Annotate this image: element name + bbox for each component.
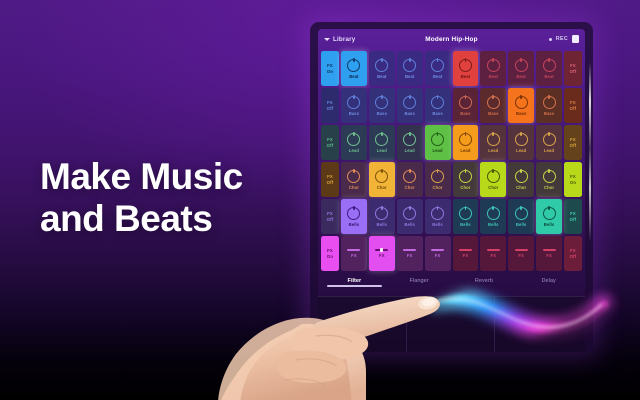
pad-slider[interactable] — [431, 249, 444, 251]
pad-bass[interactable]: Bass — [341, 88, 367, 123]
pad-chor[interactable]: Chor — [508, 162, 534, 197]
pad-slider[interactable] — [403, 249, 416, 251]
fx-label-state: Off — [327, 180, 334, 185]
fx-label-state: On — [327, 69, 333, 74]
pad-label: Chor — [349, 185, 359, 190]
knob-indicator — [465, 58, 467, 63]
pad-beat[interactable]: Beat — [369, 51, 395, 86]
pad-row-beat-row: FXOnBeatBeatBeatBeatBeatBeatBeatBeatFXOf… — [321, 51, 582, 86]
pad-label: Lead — [544, 148, 554, 153]
pad-label: Chor — [377, 185, 387, 190]
pad-label: Beat — [433, 74, 442, 79]
knob-indicator — [465, 206, 467, 211]
app-header: Library Modern Hip-Hop REC — [318, 29, 585, 49]
pad-fx[interactable]: FX — [425, 236, 451, 271]
knob-indicator — [437, 95, 439, 100]
pad-grid: FXOnBeatBeatBeatBeatBeatBeatBeatBeatFXOf… — [318, 49, 585, 271]
tab-filter[interactable]: Filter — [322, 275, 387, 284]
pad-knob[interactable] — [487, 96, 500, 109]
pad-bass[interactable]: Bass — [453, 88, 479, 123]
knob-indicator — [465, 95, 467, 100]
pad-fx[interactable]: FX — [480, 236, 506, 271]
pad-fx[interactable]: FX — [341, 236, 367, 271]
fx-label-top: FX — [327, 174, 333, 179]
pad-label: Chor — [516, 185, 526, 190]
knob-indicator — [520, 58, 522, 63]
pad-bells[interactable]: Bells — [453, 199, 479, 234]
knob-indicator — [381, 169, 383, 174]
pad-bells[interactable]: Bells — [425, 199, 451, 234]
knob-indicator — [409, 132, 411, 137]
pad-slider[interactable] — [487, 249, 500, 251]
pad-row-bass-row: FXOffBassBassBassBassBassBassBassBassFXO… — [321, 88, 582, 123]
pad-label: Bells — [432, 222, 443, 227]
fx-label-state: Off — [570, 217, 577, 222]
pad-label: Chor — [544, 185, 554, 190]
pad-knob[interactable] — [459, 133, 472, 146]
fx-right-button-chor-row[interactable]: FXOn — [564, 162, 582, 197]
fx-label-state: Off — [327, 106, 334, 111]
pad-chor[interactable]: Chor — [425, 162, 451, 197]
pad-label: Bells — [544, 222, 555, 227]
pad-label: Bells — [404, 222, 415, 227]
knob-indicator — [548, 132, 550, 137]
pad-label: Bass — [377, 111, 387, 116]
pad-fx[interactable]: FX — [369, 236, 395, 271]
pad-lead[interactable]: Lead — [453, 125, 479, 160]
knob-indicator — [548, 58, 550, 63]
pad-label: Bass — [516, 111, 526, 116]
pad-knob[interactable] — [347, 59, 360, 72]
knob-indicator — [409, 58, 411, 63]
knob-indicator — [437, 58, 439, 63]
pad-knob[interactable] — [431, 59, 444, 72]
knob-indicator — [409, 206, 411, 211]
pad-label: Bass — [432, 111, 442, 116]
pad-knob[interactable] — [347, 207, 360, 220]
pad-label: Chor — [405, 185, 415, 190]
pad-label: Bells — [349, 222, 360, 227]
pad-lead[interactable]: Lead — [425, 125, 451, 160]
pad-knob[interactable] — [375, 96, 388, 109]
pad-chor[interactable]: Chor — [397, 162, 423, 197]
pad-knob[interactable] — [347, 170, 360, 183]
pad-knob[interactable] — [487, 207, 500, 220]
fx-label-top: FX — [327, 63, 333, 68]
pad-label: FX — [491, 253, 497, 258]
fx-label-top: FX — [327, 137, 333, 142]
pad-knob[interactable] — [459, 96, 472, 109]
pad-label: Beat — [489, 74, 498, 79]
pad-knob[interactable] — [543, 133, 556, 146]
pad-knob[interactable] — [459, 207, 472, 220]
pad-label: Beat — [405, 74, 414, 79]
knob-indicator — [381, 95, 383, 100]
fx-label-top: FX — [570, 100, 576, 105]
pad-beat[interactable]: Beat — [341, 51, 367, 86]
pad-bells[interactable]: Bells — [536, 199, 562, 234]
pad-knob[interactable] — [431, 96, 444, 109]
pad-row-fx-row: FXOnFXFXFXFXFXFXFXFXFXOff — [321, 236, 582, 271]
pad-knob[interactable] — [487, 133, 500, 146]
pad-bells[interactable]: Bells — [369, 199, 395, 234]
pad-label: Beat — [461, 74, 470, 79]
bezel-highlight — [589, 62, 591, 242]
pad-fx[interactable]: FX — [536, 236, 562, 271]
pad-label: Chor — [488, 185, 498, 190]
pad-label: FX — [407, 253, 413, 258]
knob-indicator — [353, 95, 355, 100]
pad-bass[interactable]: Bass — [369, 88, 395, 123]
fx-left-button-chor-row[interactable]: FXOff — [321, 162, 339, 197]
pad-lead[interactable]: Lead — [536, 125, 562, 160]
pad-label: Bells — [460, 222, 471, 227]
fx-label-top: FX — [570, 63, 576, 68]
knob-indicator — [520, 169, 522, 174]
pad-knob[interactable] — [459, 170, 472, 183]
pad-knob[interactable] — [403, 170, 416, 183]
fx-right-button-lead-row[interactable]: FXOff — [564, 125, 582, 160]
fx-label-state: Off — [570, 106, 577, 111]
knob-indicator — [409, 169, 411, 174]
pad-knob[interactable] — [459, 59, 472, 72]
pad-knob[interactable] — [487, 170, 500, 183]
pad-fx[interactable]: FX — [453, 236, 479, 271]
pad-knob[interactable] — [515, 133, 528, 146]
fx-right-button-bass-row[interactable]: FXOff — [564, 88, 582, 123]
knob-indicator — [465, 132, 467, 137]
pad-knob[interactable] — [347, 96, 360, 109]
pad-label: Beat — [544, 74, 553, 79]
pad-fx[interactable]: FX — [508, 236, 534, 271]
pad-knob[interactable] — [515, 96, 528, 109]
pad-bass[interactable]: Bass — [508, 88, 534, 123]
pad-bells[interactable]: Bells — [508, 199, 534, 234]
pad-knob[interactable] — [487, 59, 500, 72]
pad-label: Lead — [377, 148, 387, 153]
fx-label-state: On — [570, 180, 576, 185]
pad-beat[interactable]: Beat — [425, 51, 451, 86]
fx-parameter-panel[interactable] — [318, 296, 585, 352]
pad-knob[interactable] — [431, 133, 444, 146]
pad-label: Bass — [404, 111, 414, 116]
promo-screenshot: Make Music and Beats Library Modern Hip-… — [0, 0, 640, 400]
pad-beat[interactable]: Beat — [508, 51, 534, 86]
fx-label-state: Off — [327, 217, 334, 222]
pad-chor[interactable]: Chor — [369, 162, 395, 197]
knob-indicator — [520, 132, 522, 137]
slider-handle[interactable] — [380, 248, 383, 252]
pad-slider[interactable] — [459, 249, 472, 251]
fx-right-button-fx-row[interactable]: FXOff — [564, 236, 582, 271]
knob-indicator — [353, 169, 355, 174]
pad-lead[interactable]: Lead — [341, 125, 367, 160]
pad-label: Beat — [349, 74, 358, 79]
knob-indicator — [548, 95, 550, 100]
pad-knob[interactable] — [431, 207, 444, 220]
pad-bells[interactable]: Bells — [480, 199, 506, 234]
fx-label-state: On — [327, 254, 333, 259]
pad-knob[interactable] — [375, 133, 388, 146]
tablet-screen: Library Modern Hip-Hop REC FXOnBeatBeatB… — [318, 29, 585, 352]
pad-knob[interactable] — [515, 170, 528, 183]
tab-flanger[interactable]: Flanger — [387, 275, 452, 284]
fx-right-button-bells-row[interactable]: FXOff — [564, 199, 582, 234]
knob-indicator — [492, 132, 494, 137]
pad-label: Lead — [516, 148, 526, 153]
pad-bells[interactable]: Bells — [341, 199, 367, 234]
tablet-device: Library Modern Hip-Hop REC FXOnBeatBeatB… — [310, 22, 593, 352]
fx-label-state: Off — [570, 143, 577, 148]
pad-row-bells-row: FXOffBellsBellsBellsBellsBellsBellsBells… — [321, 199, 582, 234]
knob-indicator — [465, 169, 467, 174]
pad-label: Lead — [349, 148, 359, 153]
pad-knob[interactable] — [403, 133, 416, 146]
knob-indicator — [409, 95, 411, 100]
pad-label: FX — [379, 253, 385, 258]
knob-indicator — [353, 132, 355, 137]
knob-indicator — [520, 206, 522, 211]
fx-label-top: FX — [570, 211, 576, 216]
fx-label-top: FX — [570, 174, 576, 179]
pad-label: Beat — [377, 74, 386, 79]
pad-bells[interactable]: Bells — [397, 199, 423, 234]
fx-left-button-beat-row[interactable]: FXOn — [321, 51, 339, 86]
knob-indicator — [520, 95, 522, 100]
pad-label: Bells — [516, 222, 527, 227]
pad-label: FX — [435, 253, 441, 258]
pad-fx[interactable]: FX — [397, 236, 423, 271]
knob-indicator — [492, 58, 494, 63]
pad-label: FX — [546, 253, 552, 258]
pad-knob[interactable] — [403, 207, 416, 220]
knob-indicator — [437, 169, 439, 174]
pad-lead[interactable]: Lead — [480, 125, 506, 160]
pad-knob[interactable] — [403, 59, 416, 72]
pad-label: Bass — [488, 111, 498, 116]
pad-label: Bass — [460, 111, 470, 116]
pad-label: Lead — [432, 148, 442, 153]
knob-indicator — [492, 206, 494, 211]
knob-indicator — [548, 169, 550, 174]
pad-knob[interactable] — [515, 59, 528, 72]
fx-label-state: Off — [327, 143, 334, 148]
pad-knob[interactable] — [375, 207, 388, 220]
effect-tab-bar: FilterFlangerReverbDelay — [318, 275, 585, 291]
pad-knob[interactable] — [515, 207, 528, 220]
pad-beat[interactable]: Beat — [480, 51, 506, 86]
pad-knob[interactable] — [347, 133, 360, 146]
knob-indicator — [492, 169, 494, 174]
pad-label: FX — [463, 253, 469, 258]
pad-label: FX — [351, 253, 357, 258]
pad-knob[interactable] — [543, 59, 556, 72]
pad-beat[interactable]: Beat — [397, 51, 423, 86]
knob-indicator — [381, 206, 383, 211]
page-title: Make Music and Beats — [40, 156, 243, 240]
pad-slider[interactable] — [375, 249, 388, 251]
pad-knob[interactable] — [431, 170, 444, 183]
pad-bass[interactable]: Bass — [536, 88, 562, 123]
pad-chor[interactable]: Chor — [536, 162, 562, 197]
fx-left-button-bells-row[interactable]: FXOff — [321, 199, 339, 234]
tab-delay[interactable]: Delay — [516, 275, 581, 284]
knob-indicator — [353, 206, 355, 211]
knob-indicator — [353, 58, 355, 63]
pad-knob[interactable] — [403, 96, 416, 109]
pad-label: Bells — [377, 222, 388, 227]
pad-slider[interactable] — [543, 249, 556, 251]
pad-chor[interactable]: Chor — [453, 162, 479, 197]
pad-lead[interactable]: Lead — [369, 125, 395, 160]
fx-label-top: FX — [570, 137, 576, 142]
pad-beat[interactable]: Beat — [453, 51, 479, 86]
pad-bass[interactable]: Bass — [480, 88, 506, 123]
knob-indicator — [381, 58, 383, 63]
fx-left-button-lead-row[interactable]: FXOff — [321, 125, 339, 160]
pad-slider[interactable] — [515, 249, 528, 251]
pad-label: Lead — [405, 148, 415, 153]
pad-label: FX — [518, 253, 524, 258]
pad-lead[interactable]: Lead — [397, 125, 423, 160]
pad-knob[interactable] — [375, 170, 388, 183]
pad-slider[interactable] — [347, 249, 360, 251]
pad-knob[interactable] — [543, 207, 556, 220]
fx-label-state: Off — [570, 254, 577, 259]
pad-label: Bass — [349, 111, 359, 116]
fx-label-top: FX — [327, 211, 333, 216]
preset-title: Modern Hip-Hop — [318, 36, 585, 43]
fx-left-button-fx-row[interactable]: FXOn — [321, 236, 339, 271]
pad-knob[interactable] — [543, 96, 556, 109]
knob-indicator — [381, 132, 383, 137]
pad-bass[interactable]: Bass — [425, 88, 451, 123]
knob-indicator — [492, 95, 494, 100]
pad-label: Lead — [488, 148, 498, 153]
pad-label: Chor — [460, 185, 470, 190]
pad-chor[interactable]: Chor — [480, 162, 506, 197]
pad-label: Bells — [488, 222, 499, 227]
tab-reverb[interactable]: Reverb — [452, 275, 517, 284]
pad-label: Beat — [516, 74, 525, 79]
pad-knob[interactable] — [375, 59, 388, 72]
fx-label-top: FX — [327, 248, 333, 253]
fx-label-top: FX — [570, 248, 576, 253]
pad-row-lead-row: FXOffLeadLeadLeadLeadLeadLeadLeadLeadFXO… — [321, 125, 582, 160]
pad-label: Chor — [432, 185, 442, 190]
fx-left-button-bass-row[interactable]: FXOff — [321, 88, 339, 123]
pad-row-chor-row: FXOffChorChorChorChorChorChorChorChorFXO… — [321, 162, 582, 197]
fx-label-state: Off — [570, 69, 577, 74]
pad-beat[interactable]: Beat — [536, 51, 562, 86]
fx-right-button-beat-row[interactable]: FXOff — [564, 51, 582, 86]
pad-label: Bass — [544, 111, 554, 116]
pad-chor[interactable]: Chor — [341, 162, 367, 197]
knob-indicator — [548, 206, 550, 211]
pad-bass[interactable]: Bass — [397, 88, 423, 123]
knob-indicator — [437, 206, 439, 211]
pad-lead[interactable]: Lead — [508, 125, 534, 160]
knob-indicator — [437, 132, 439, 137]
pad-knob[interactable] — [543, 170, 556, 183]
pad-label: Lead — [460, 148, 470, 153]
fx-label-top: FX — [327, 100, 333, 105]
